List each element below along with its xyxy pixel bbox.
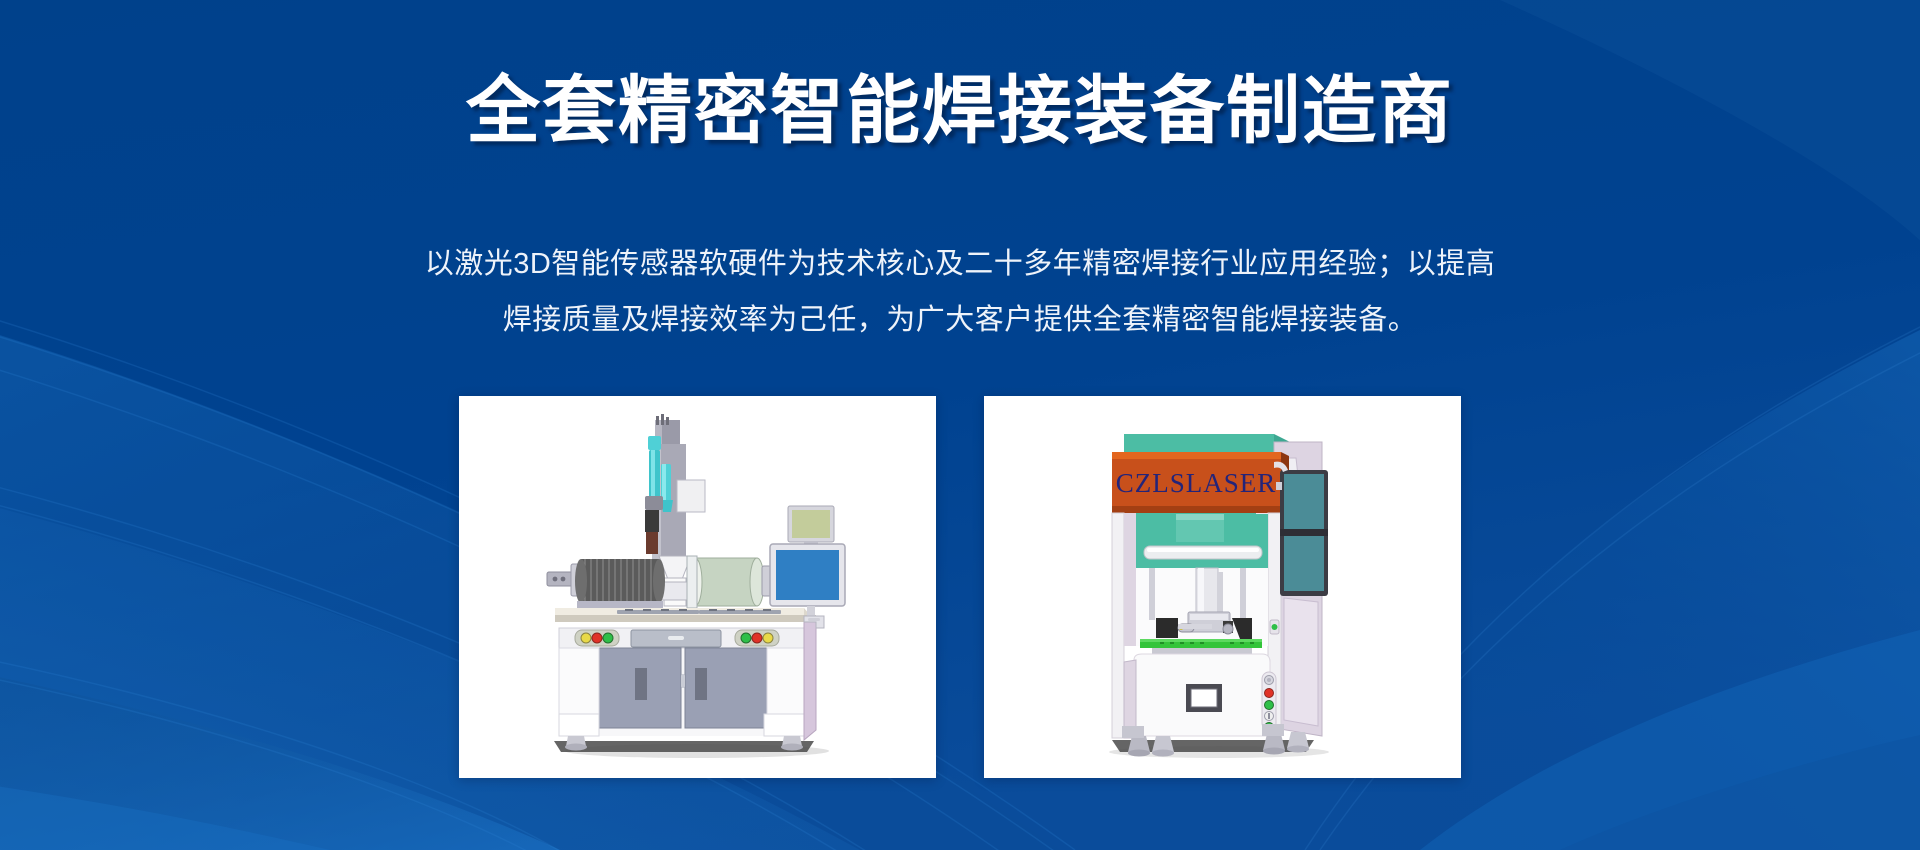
- precision-laser-welding-machine-illustration: [459, 396, 936, 778]
- product-card-precision-laser-welding-machine[interactable]: 精密激光焊接设备 — 带监控屏的台式激光焊接机: [459, 396, 936, 778]
- headline-container: 全套精密智能焊接装备制造商: [0, 72, 1920, 150]
- product-image-gallery: 精密激光焊接设备 — 带监控屏的台式激光焊接机: [459, 396, 1461, 778]
- hero-banner: 全套精密智能焊接装备制造商 以激光3D智能传感器软硬件为技术核心及二十多年精密焊…: [0, 0, 1920, 850]
- subtitle-line-1: 以激光3D智能传感器软硬件为技术核心及二十多年精密焊接行业应用经验；以提高: [390, 236, 1530, 292]
- brand-label-czlslaser: CZLSLASER: [1116, 468, 1277, 498]
- subtitle-line-2: 焊接质量及焊接效率为己任，为广大客户提供全套精密智能焊接装备。: [390, 292, 1530, 348]
- czlslaser-cabinet-welding-machine-illustration: CZLSLASER: [984, 396, 1461, 778]
- product-card-czlslaser-cabinet-welding-machine[interactable]: CZLSLASER 精密智能焊接工作站: [984, 396, 1461, 778]
- page-title: 全套精密智能焊接装备制造商: [466, 72, 1454, 150]
- subtitle-container: 以激光3D智能传感器软硬件为技术核心及二十多年精密焊接行业应用经验；以提高 焊接…: [390, 236, 1530, 348]
